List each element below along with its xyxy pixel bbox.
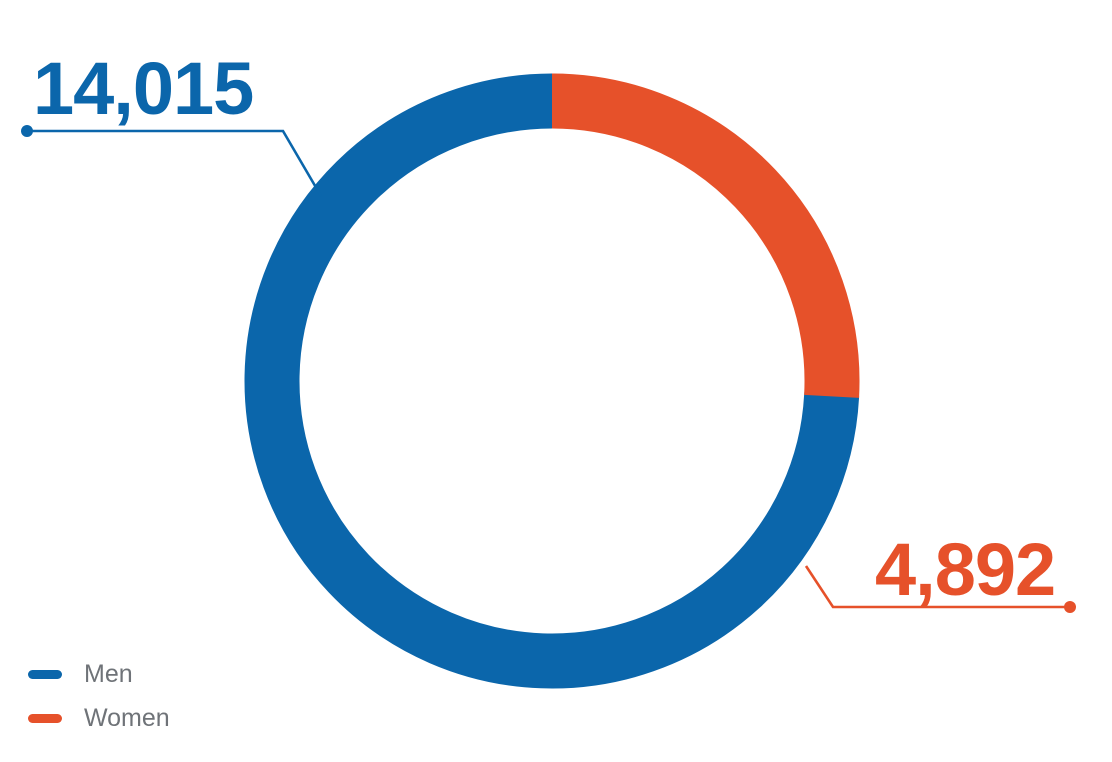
legend-swatch-men-icon — [28, 670, 62, 679]
chart-canvas: 14,015 4,892 Men Women — [0, 0, 1112, 762]
legend-swatch-women-icon — [28, 714, 62, 723]
leader-dot-men — [21, 125, 33, 137]
chart-legend: Men Women — [28, 652, 328, 740]
legend-label-men: Men — [84, 662, 133, 687]
value-label-women: 4,892 — [875, 533, 1055, 607]
legend-item-men[interactable]: Men — [28, 652, 328, 696]
legend-item-women[interactable]: Women — [28, 696, 328, 740]
legend-label-women: Women — [84, 706, 170, 731]
value-label-men: 14,015 — [33, 52, 253, 126]
leader-dot-women — [1064, 601, 1076, 613]
donut-slice-women[interactable] — [552, 101, 832, 396]
leader-line-men — [21, 125, 321, 196]
